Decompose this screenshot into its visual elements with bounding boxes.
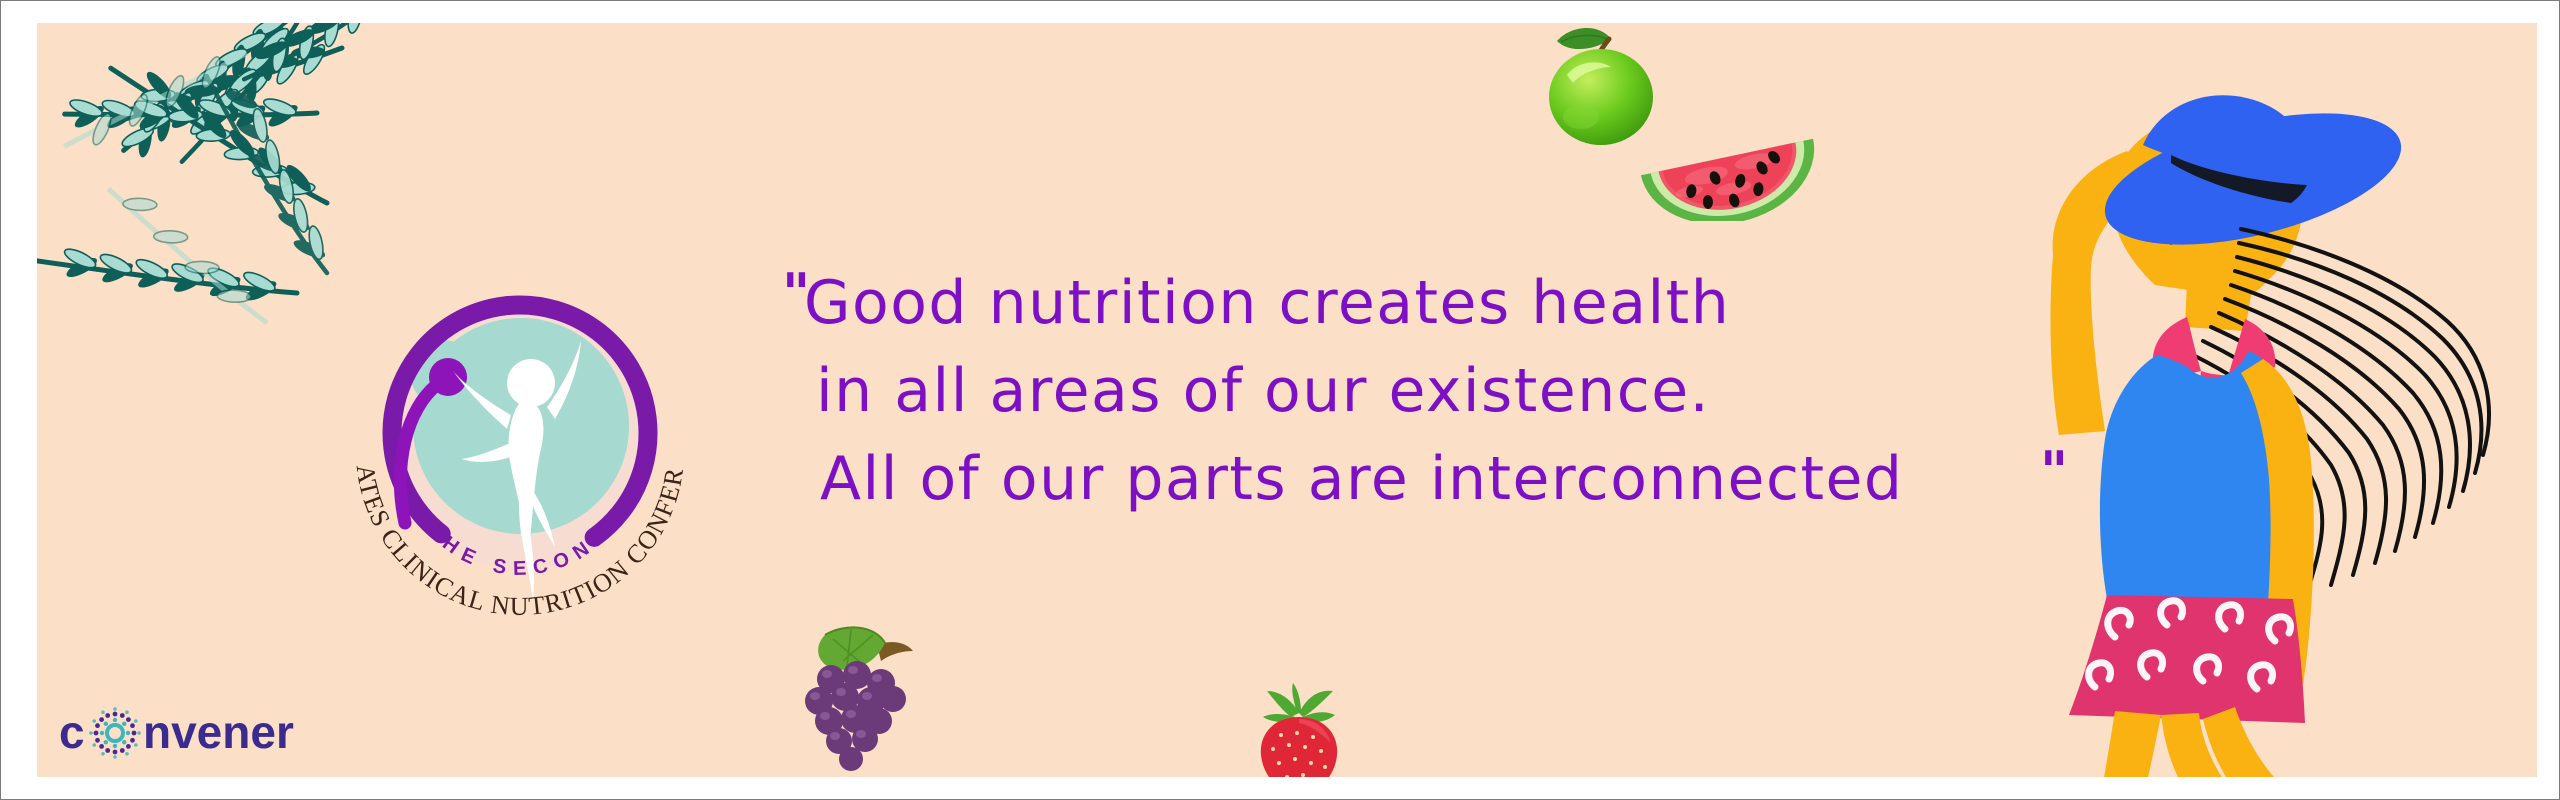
stethoscope-icon <box>429 358 467 396</box>
conveners-text-after: nveners <box>143 707 295 758</box>
woman-illustration <box>2035 59 2537 777</box>
strawberry-icon <box>1253 683 1345 777</box>
quote-open-mark: " <box>782 267 810 321</box>
conveners-text-before: c <box>59 707 85 758</box>
conveners-logo[interactable]: c <box>59 707 295 759</box>
watermelon-icon <box>1627 71 1827 221</box>
banner-root: EIMRATES CLINICAL NUTRITION CONFERENCE T… <box>0 0 2560 800</box>
grapes-icon <box>781 617 931 777</box>
quote-line-1: Good nutrition creates health <box>782 259 2112 347</box>
banner-canvas: EIMRATES CLINICAL NUTRITION CONFERENCE T… <box>37 23 2537 777</box>
quote-line-3: All of our parts are interconnected <box>782 435 2112 523</box>
conveners-mandala-icon <box>89 707 141 759</box>
quote-block: " Good nutrition creates health in all a… <box>782 259 2112 523</box>
conference-logo: EIMRATES CLINICAL NUTRITION CONFERENCE T… <box>335 261 705 631</box>
quote-line-2: in all areas of our existence. <box>782 347 2112 435</box>
